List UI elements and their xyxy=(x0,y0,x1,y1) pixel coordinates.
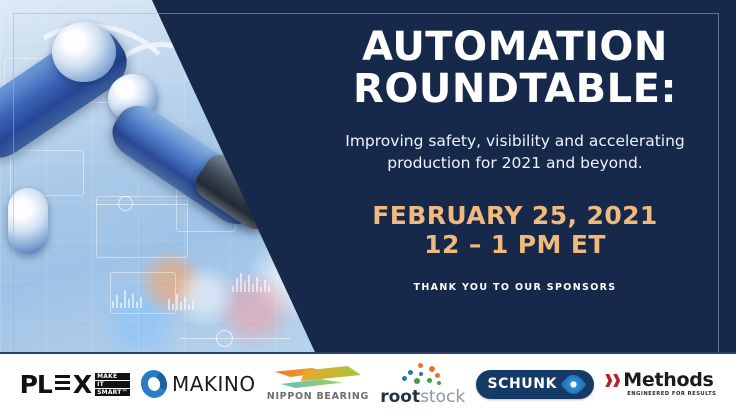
hud-waveform xyxy=(232,272,270,292)
sponsor-logo-plex: PL X MAKE IT SMART™ xyxy=(20,361,130,407)
sponsor-logo-rootstock: rootstock xyxy=(380,361,465,407)
plex-tagline-1: MAKE xyxy=(95,373,130,380)
subtitle: Improving safety, visibility and acceler… xyxy=(332,130,698,175)
plex-tagline-2: IT xyxy=(95,381,130,388)
methods-chevron-icon xyxy=(605,374,620,387)
nippon-bearing-arrow-icon xyxy=(275,366,361,388)
plex-tagline: MAKE IT SMART™ xyxy=(95,373,130,396)
hud-line xyxy=(180,338,290,339)
event-date: FEBRUARY 25, 2021 xyxy=(372,201,657,230)
event-datetime: FEBRUARY 25, 2021 12 – 1 PM ET xyxy=(332,201,698,260)
sponsor-logo-makino: MAKINO xyxy=(141,361,256,407)
sponsors-heading: THANK YOU TO OUR SPONSORS xyxy=(332,282,698,293)
page-title: AUTOMATION ROUNDTABLE: xyxy=(332,26,698,110)
makino-wordmark: MAKINO xyxy=(172,372,256,396)
plex-wordmark-start: PL xyxy=(20,372,52,397)
subtitle-line-1: Improving safety, visibility and acceler… xyxy=(345,132,685,150)
plex-striped-e-icon xyxy=(55,375,70,393)
headline-line-1: AUTOMATION xyxy=(362,24,668,70)
rootstock-wordmark: rootstock xyxy=(380,389,465,406)
plex-tagline-3: SMART™ xyxy=(95,389,130,396)
robot-shoulder-joint xyxy=(52,22,116,82)
banner-content: AUTOMATION ROUNDTABLE: Improving safety,… xyxy=(318,0,720,352)
headline-line-2: ROUNDTABLE: xyxy=(332,68,698,110)
event-time: 12 – 1 PM ET xyxy=(332,230,698,260)
sponsor-logo-methods: Methods ENGINEERED FOR RESULTS xyxy=(605,361,716,407)
rootstock-wordmark-bold: root xyxy=(380,387,420,407)
hud-bar-chart xyxy=(112,286,142,308)
hud-bar-chart xyxy=(168,290,194,310)
methods-wordmark: Methods xyxy=(623,371,713,390)
nippon-bearing-wordmark: NIPPON BEARING xyxy=(267,391,369,402)
hud-line xyxy=(96,204,188,205)
makino-ring-icon xyxy=(137,367,170,402)
sponsor-logo-bar: PL X MAKE IT SMART™ MAKINO NIPPON BEARIN… xyxy=(0,352,736,414)
schunk-leaf-icon xyxy=(560,371,587,398)
rootstock-network-icon xyxy=(402,363,444,387)
sponsor-logo-nippon-bearing: NIPPON BEARING xyxy=(267,361,369,407)
methods-tagline: ENGINEERED FOR RESULTS xyxy=(627,391,716,397)
subtitle-line-2: production for 2021 and beyond. xyxy=(387,154,642,172)
rootstock-wordmark-light: stock xyxy=(420,387,465,407)
schunk-wordmark: SCHUNK xyxy=(487,376,557,392)
robot-base xyxy=(8,188,48,254)
sponsor-logo-schunk: SCHUNK xyxy=(476,370,594,399)
plex-wordmark-end: X xyxy=(73,372,91,397)
hud-panel xyxy=(96,196,188,258)
webinar-promo-banner: AUTOMATION ROUNDTABLE: Improving safety,… xyxy=(0,0,736,414)
